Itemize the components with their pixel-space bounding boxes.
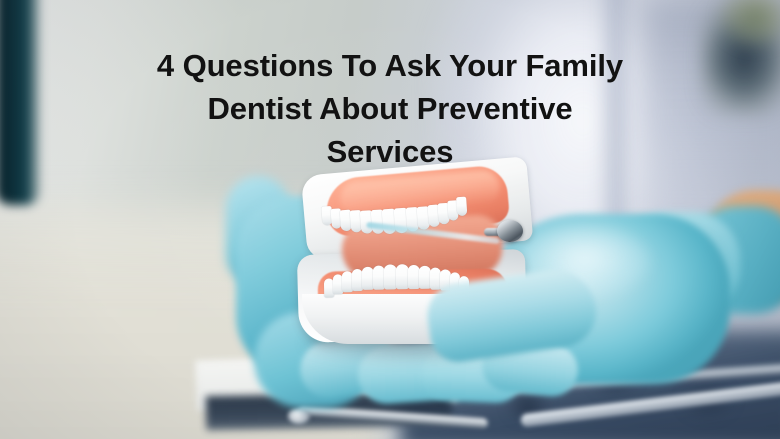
photo-dental-probe-tip xyxy=(288,408,310,424)
tooth xyxy=(418,266,430,289)
page-title-line-1: 4 Questions To Ask Your Family xyxy=(157,48,623,83)
headline-block: 4 Questions To Ask Your Family Dentist A… xyxy=(0,44,780,173)
tooth xyxy=(372,266,384,290)
article-hero-banner: 4 Questions To Ask Your Family Dentist A… xyxy=(0,0,780,439)
page-title-line-3: Services xyxy=(327,134,454,169)
page-title: 4 Questions To Ask Your Family Dentist A… xyxy=(60,44,720,173)
page-title-line-2: Dentist About Preventive xyxy=(207,91,572,126)
tooth xyxy=(361,267,373,290)
tooth xyxy=(407,265,419,289)
tooth xyxy=(429,268,440,290)
tooth xyxy=(383,264,396,289)
dental-teeth-model xyxy=(296,166,532,348)
tooth xyxy=(456,197,467,217)
tooth xyxy=(395,264,408,289)
model-chrome-screw xyxy=(497,220,523,242)
